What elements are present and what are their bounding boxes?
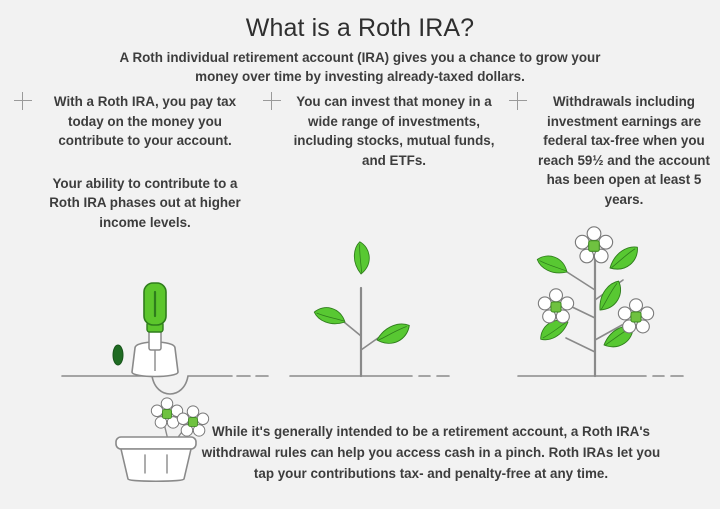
daisy-icon bbox=[618, 299, 653, 333]
column-1-paragraph-1: With a Roth IRA, you pay tax today on th… bbox=[14, 92, 250, 151]
leaf-icon bbox=[354, 242, 369, 274]
leaf-icon bbox=[374, 320, 413, 348]
plant-branch-mid-left bbox=[568, 305, 595, 318]
daisy-icon bbox=[575, 227, 612, 263]
seed-icon bbox=[113, 345, 123, 365]
trowel-handle bbox=[144, 283, 166, 325]
column-contribute: With a Roth IRA, you pay tax today on th… bbox=[14, 92, 250, 233]
footer-text: While it's generally intended to be a re… bbox=[193, 421, 669, 484]
leaf-icon bbox=[312, 303, 347, 328]
column-withdraw: Withdrawals including investment earning… bbox=[509, 92, 717, 210]
plus-icon bbox=[509, 92, 527, 110]
leaf-icon bbox=[606, 242, 643, 275]
leaf-icon bbox=[536, 315, 571, 344]
basket-body bbox=[121, 449, 191, 481]
column-invest: You can invest that money in a wide rang… bbox=[263, 92, 499, 170]
basket-flower-stem-left bbox=[162, 415, 168, 440]
plant-branch-lower-left bbox=[566, 338, 595, 352]
page-subtitle: A Roth individual retirement account (IR… bbox=[110, 48, 610, 86]
basket-rim bbox=[116, 437, 196, 449]
daisy-icon bbox=[151, 398, 182, 428]
leaf-icon bbox=[535, 251, 571, 278]
sapling-branch-right bbox=[361, 338, 378, 350]
ground-line-solid bbox=[62, 376, 232, 394]
trowel-ferrule bbox=[147, 322, 163, 332]
plus-icon bbox=[14, 92, 32, 110]
leaf-icon bbox=[594, 278, 627, 315]
column-1-paragraph-2: Your ability to contribute to a Roth IRA… bbox=[14, 174, 250, 233]
column-2-paragraph-1: You can invest that money in a wide rang… bbox=[263, 92, 499, 170]
illustration-trowel-and-seed bbox=[62, 283, 268, 394]
daisy-icon bbox=[538, 289, 573, 323]
roth-ira-infographic: What is a Roth IRA? A Roth individual re… bbox=[0, 0, 720, 509]
plant-branch-upper-left bbox=[567, 272, 595, 290]
leaf-icon bbox=[600, 322, 638, 353]
illustration-sapling bbox=[290, 242, 449, 376]
trowel-shaft bbox=[149, 328, 161, 350]
basket-flower-stem-right bbox=[176, 421, 190, 440]
illustration-flowering-plant bbox=[518, 227, 683, 376]
page-title: What is a Roth IRA? bbox=[0, 14, 720, 43]
sapling-branch-left bbox=[344, 322, 361, 336]
trowel-blade bbox=[132, 342, 178, 377]
plus-icon bbox=[263, 92, 281, 110]
plant-branch-mid-right bbox=[595, 325, 622, 340]
plant-branch-upper-right bbox=[595, 280, 623, 300]
column-3-paragraph-1: Withdrawals including investment earning… bbox=[509, 92, 717, 210]
